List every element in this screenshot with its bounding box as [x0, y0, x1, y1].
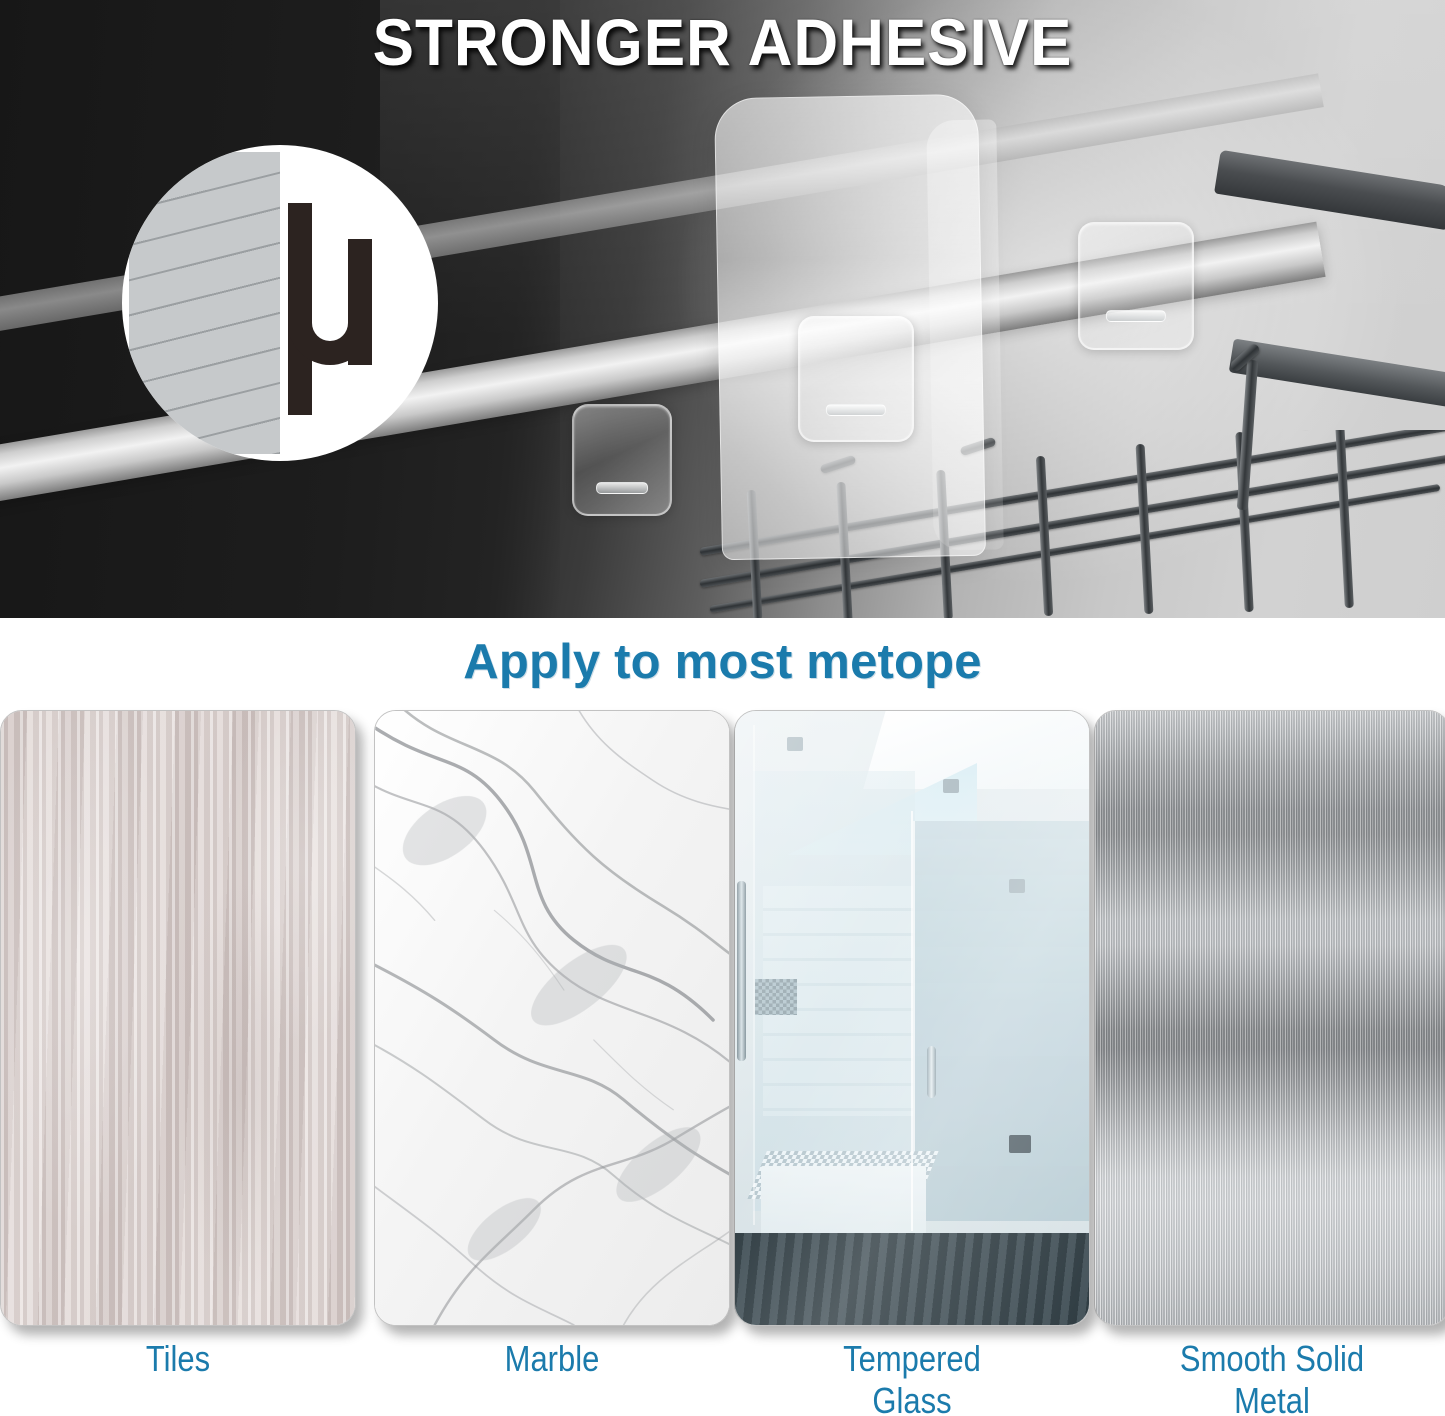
caption-tempered-glass: Tempered Glass	[759, 1338, 1065, 1416]
surface-image-tiles	[0, 710, 356, 1326]
badge-circle	[122, 145, 438, 461]
brushed-metal-texture	[1095, 711, 1445, 1325]
caption-marble: Marble	[399, 1338, 705, 1380]
caption-tiles: Tiles	[25, 1338, 331, 1380]
surface-panel-marble	[374, 710, 730, 1326]
surface-image-marble	[374, 710, 730, 1326]
surface-captions: Tiles Marble Tempered Glass Smooth Solid…	[0, 1338, 1445, 1416]
caption-marble-line1: Marble	[399, 1338, 705, 1380]
surface-panel-tiles	[0, 710, 356, 1326]
caption-glass-line2: Glass	[759, 1380, 1065, 1416]
super-adhesive-badge: SUPER ADHESIVE	[122, 145, 438, 461]
hero-section: STRONGER ADHESIVE SUPER ADHESIVE	[0, 0, 1445, 618]
surface-panel-metal	[1094, 710, 1445, 1326]
surface-image-metal	[1094, 710, 1445, 1326]
tempered-glass-photo	[735, 711, 1089, 1325]
adhesive-sticker-pad	[1078, 222, 1194, 350]
caddy-right-edge-top	[1214, 150, 1445, 230]
tiles-texture	[1, 711, 355, 1325]
caddy-right-edge-bottom	[1229, 339, 1445, 408]
adhesive-sticker-pad	[572, 404, 672, 516]
adhesive-sticker-pad	[798, 316, 914, 442]
caption-smooth-solid-metal: Smooth Solid Metal	[1119, 1338, 1425, 1416]
badge-striped-half	[129, 152, 280, 454]
mu-right-stroke	[348, 239, 372, 365]
hero-title: STRONGER ADHESIVE	[43, 4, 1401, 80]
sticker-hook-slot	[1106, 310, 1166, 322]
surface-panel-tempered-glass	[734, 710, 1090, 1326]
mu-symbol-icon	[280, 189, 410, 419]
sticker-hook-slot	[826, 404, 886, 416]
marble-veins-icon	[375, 711, 729, 1325]
caption-metal-line2: Metal	[1119, 1380, 1425, 1416]
caption-tiles-line1: Tiles	[25, 1338, 331, 1380]
caption-glass-line1: Tempered	[759, 1338, 1065, 1380]
product-infographic: STRONGER ADHESIVE SUPER ADHESIVE Apply t…	[0, 0, 1445, 1416]
surface-image-tempered-glass	[734, 710, 1090, 1326]
glass-reflection-sheen	[735, 711, 1089, 1325]
apply-heading: Apply to most metope	[0, 634, 1445, 690]
marble-texture	[375, 711, 729, 1325]
sticker-hook-slot	[596, 482, 648, 494]
adhesive-film-sheet-secondary	[926, 119, 1003, 550]
caption-metal-line1: Smooth Solid	[1119, 1338, 1425, 1380]
surface-panel-row	[0, 710, 1445, 1328]
